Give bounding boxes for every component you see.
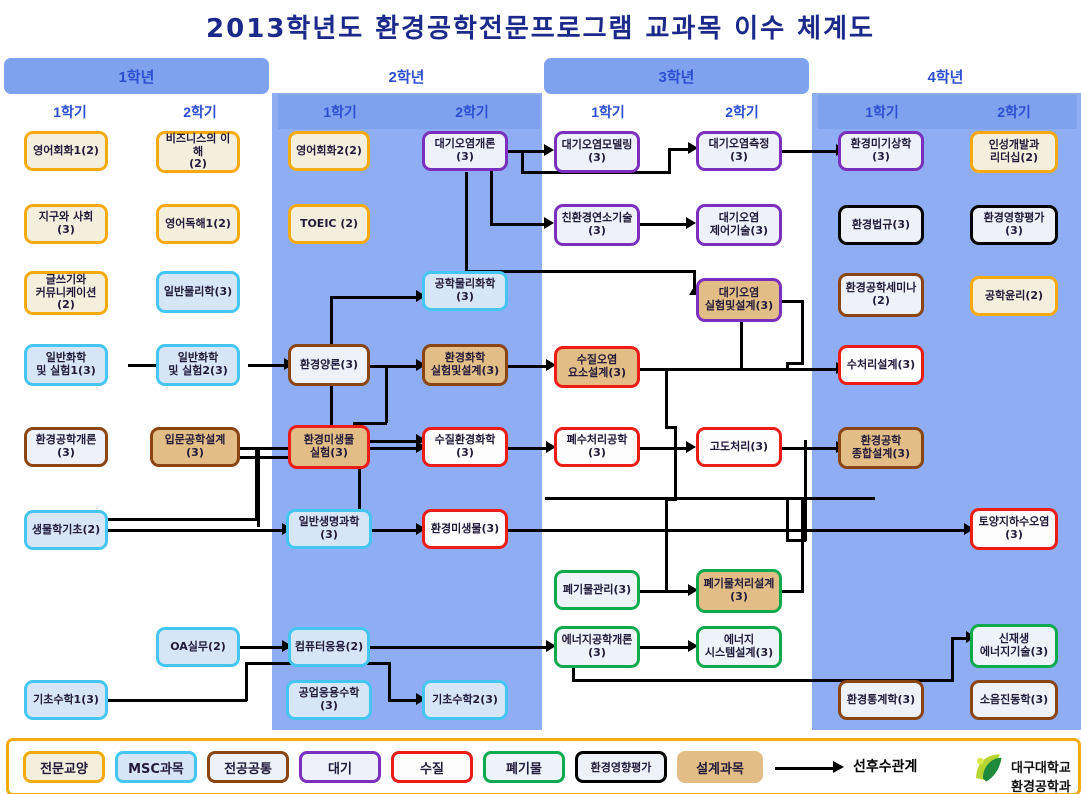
- course-label: OA실무(2): [170, 641, 226, 654]
- course-box[interactable]: 폐기물처리설계(3): [696, 569, 782, 613]
- wire: [370, 529, 420, 532]
- course-label: 친환경연소기술(3): [562, 212, 633, 237]
- course-label: 수질오염요소설계(3): [568, 354, 626, 379]
- year-header-1-label: 1학년: [119, 66, 155, 87]
- semester-text: 1학기: [323, 102, 357, 122]
- course-label: 환경미생물실험(3): [304, 434, 355, 459]
- course-box[interactable]: 일반화학및 실험2(3): [156, 344, 240, 386]
- year-header-4-label: 4학년: [928, 66, 964, 87]
- wire: [804, 497, 807, 541]
- arrow-head: [544, 217, 554, 229]
- legend-relation-label: 선후수관계: [853, 756, 917, 776]
- wire: [951, 637, 954, 681]
- course-label: 일반생명과학(3): [292, 516, 366, 541]
- legend-label: MSC과목: [128, 758, 184, 777]
- course-label: 입문공학설계(3): [156, 434, 234, 459]
- university-logo-icon: [971, 751, 1005, 785]
- wire: [490, 170, 493, 225]
- semester-text: 2학기: [997, 102, 1031, 122]
- semester-label-5: 1학기: [548, 95, 668, 129]
- year-header-3: 3학년: [544, 58, 809, 94]
- wire: [465, 172, 468, 272]
- wire: [786, 368, 838, 371]
- course-label: 일반화학및 실험2(3): [168, 352, 228, 377]
- semester-label-4: 2학기: [412, 95, 532, 129]
- course-label: 인성개발과리더십(2): [989, 139, 1040, 164]
- wire: [804, 440, 807, 498]
- course-box[interactable]: 수처리설계(3): [838, 345, 924, 385]
- legend-item-msc[interactable]: MSC과목: [115, 751, 197, 783]
- course-box[interactable]: 환경통계학(3): [838, 680, 924, 720]
- course-label: 기초수학2(3): [432, 694, 498, 707]
- legend-arrow-line: [775, 767, 835, 770]
- course-label: 환경양론(3): [300, 359, 358, 372]
- wire: [801, 300, 804, 364]
- wire: [640, 590, 690, 593]
- course-label: 수처리설계(3): [847, 359, 915, 372]
- course-label: 일반화학및 실험1(3): [36, 352, 96, 377]
- course-label: 글쓰기와커뮤니케이션(2): [30, 274, 102, 312]
- legend-item-gyoyang[interactable]: 전문교양: [23, 751, 105, 783]
- wire: [490, 223, 548, 226]
- course-label: 영어회화1(2): [33, 145, 99, 158]
- course-label: 환경공학세미나(2): [846, 282, 917, 307]
- course-box[interactable]: 친환경연소기술(3): [554, 204, 640, 246]
- wire: [107, 699, 247, 702]
- wire: [245, 662, 248, 701]
- course-box[interactable]: 영어회화1(2): [24, 131, 108, 171]
- wire: [740, 318, 743, 370]
- course-label: 영어독해1(2): [165, 218, 231, 231]
- course-box[interactable]: 입문공학설계(3): [150, 427, 240, 467]
- course-label: 환경미생물(3): [431, 523, 499, 536]
- course-box[interactable]: 기초수학1(3): [24, 680, 108, 720]
- course-box[interactable]: 환경영향평가(3): [970, 205, 1058, 245]
- course-box[interactable]: 수질환경화학(3): [422, 427, 508, 467]
- course-box[interactable]: 신재생에너지기술(3): [970, 624, 1058, 668]
- legend-label: 설계과목: [696, 758, 744, 777]
- course-box[interactable]: 공업응용수학(3): [286, 680, 372, 720]
- wire: [640, 646, 690, 649]
- course-box[interactable]: 에너지시스템설계(3): [696, 626, 782, 668]
- course-box[interactable]: 토양지하수오염(3): [970, 508, 1058, 550]
- course-box[interactable]: 지구와 사회(3): [24, 204, 108, 244]
- course-label: 신재생에너지기술(3): [980, 633, 1048, 658]
- legend-arrow-head-icon: [833, 761, 844, 773]
- wire: [786, 500, 789, 540]
- course-label: 대기오염제어기술(3): [710, 212, 768, 237]
- course-box[interactable]: 환경미생물실험(3): [288, 425, 370, 469]
- semester-text: 2학기: [725, 102, 759, 122]
- wire: [508, 529, 968, 532]
- wire: [370, 365, 420, 368]
- course-box[interactable]: 공학윤리(2): [970, 276, 1058, 316]
- course-label: 소음진동학(3): [980, 694, 1048, 707]
- year-header-3-label: 3학년: [659, 66, 695, 87]
- legend-item-water[interactable]: 수질: [391, 751, 473, 783]
- legend-label: 전문교양: [40, 758, 88, 777]
- course-box[interactable]: 컴퓨터응용(2): [288, 627, 370, 667]
- course-label: 기초수학1(3): [33, 694, 99, 707]
- legend-item-air[interactable]: 대기: [299, 751, 381, 783]
- course-label: 에너지공학개론(3): [562, 634, 633, 659]
- legend-label: 전공공통: [224, 758, 272, 777]
- wire: [508, 150, 548, 153]
- wire: [801, 500, 804, 592]
- course-label: 공업응용수학(3): [292, 687, 366, 712]
- course-box[interactable]: 비즈니스의 이해(2): [156, 131, 240, 173]
- course-box[interactable]: 일반물리학(3): [156, 271, 240, 313]
- wire: [107, 529, 285, 532]
- course-box[interactable]: 고도처리(3): [696, 427, 782, 467]
- semester-text: 1학기: [591, 102, 625, 122]
- wire: [782, 447, 838, 450]
- course-label: 폐기물관리(3): [563, 584, 631, 597]
- wire: [640, 223, 688, 226]
- course-label: 공학물리화학(3): [428, 278, 502, 303]
- semester-label-6: 2학기: [682, 95, 802, 129]
- wire: [545, 497, 875, 500]
- semester-text: 1학기: [53, 102, 87, 122]
- semester-text: 1학기: [865, 102, 899, 122]
- wire: [665, 498, 668, 592]
- course-label: 환경미기상학(3): [844, 138, 918, 163]
- legend-label: 폐기물: [506, 758, 542, 777]
- year-header-4: 4학년: [814, 58, 1077, 94]
- course-label: 환경화학실험및설계(3): [431, 352, 499, 377]
- course-box[interactable]: 폐기물관리(3): [554, 570, 640, 610]
- legend-panel: 전문교양 MSC과목 전공공통 대기 수질 폐기물 환경영향평가 설계과목 선후…: [6, 738, 1081, 794]
- course-box[interactable]: 공학물리화학(3): [422, 271, 508, 311]
- wire: [640, 368, 790, 371]
- course-label: 폐수처리공학(3): [560, 434, 634, 459]
- semester-text: 2학기: [183, 102, 217, 122]
- semester-label-3: 1학기: [280, 95, 400, 129]
- course-box[interactable]: 에너지공학개론(3): [554, 626, 640, 668]
- page-title: 2013학년도 환경공학전문프로그램 교과목 이수 체계도: [0, 8, 1081, 45]
- wire: [107, 518, 257, 521]
- course-box[interactable]: 환경공학종합설계(3): [838, 427, 924, 469]
- course-box[interactable]: 폐수처리공학(3): [554, 427, 640, 467]
- legend-item-eia[interactable]: 환경영향평가: [575, 751, 667, 783]
- course-label: 지구와 사회(3): [30, 211, 102, 236]
- legend-item-waste[interactable]: 폐기물: [483, 751, 565, 783]
- legend-item-design[interactable]: 설계과목: [677, 751, 763, 783]
- course-label: 환경통계학(3): [847, 694, 915, 707]
- year-header-2: 2학년: [274, 58, 539, 94]
- course-label: 폐기물처리설계(3): [704, 578, 775, 603]
- course-label: 에너지시스템설계(3): [705, 634, 773, 659]
- semester-label-8: 2학기: [954, 95, 1074, 129]
- course-label: 고도처리(3): [710, 441, 768, 454]
- wire: [385, 365, 388, 423]
- course-box[interactable]: 환경공학개론(3): [24, 427, 108, 467]
- course-box[interactable]: 수질오염요소설계(3): [554, 346, 640, 388]
- course-box[interactable]: 기초수학2(3): [422, 680, 508, 720]
- semester-label-1: 1학기: [10, 95, 130, 129]
- arrow-head: [686, 441, 696, 453]
- course-label: TOEIC (2): [300, 218, 358, 231]
- course-label: 공학윤리(2): [985, 290, 1043, 303]
- wire: [668, 148, 671, 173]
- semester-label-7: 1학기: [822, 95, 942, 129]
- course-box[interactable]: 환경미기상학(3): [838, 131, 924, 171]
- course-label: 비즈니스의 이해(2): [162, 133, 234, 171]
- course-label: 환경영향평가(3): [976, 212, 1052, 237]
- course-box[interactable]: 영어회화2(2): [288, 131, 370, 171]
- arrow-head: [544, 144, 554, 156]
- course-box[interactable]: 글쓰기와커뮤니케이션(2): [24, 271, 108, 315]
- wire: [508, 365, 550, 368]
- course-box[interactable]: 일반화학및 실험1(3): [24, 344, 108, 386]
- course-box[interactable]: 인성개발과리더십(2): [970, 131, 1058, 173]
- course-label: 수질환경화학(3): [428, 434, 502, 459]
- course-box[interactable]: 소음진동학(3): [970, 680, 1058, 720]
- wire: [388, 662, 391, 700]
- course-box[interactable]: 일반생명과학(3): [286, 509, 372, 549]
- wire: [240, 447, 262, 450]
- wire: [674, 426, 677, 500]
- course-box[interactable]: 대기오염실험및설계(3): [696, 278, 782, 322]
- course-box[interactable]: 대기오염개론(3): [422, 131, 508, 171]
- course-label: 컴퓨터응용(2): [295, 641, 363, 654]
- course-box[interactable]: 환경미생물(3): [422, 509, 508, 549]
- legend-label: 환경영향평가: [591, 759, 652, 775]
- year-header-2-label: 2학년: [389, 66, 425, 87]
- course-label: 대기오염실험및설계(3): [705, 287, 773, 312]
- arrow-head: [686, 217, 696, 229]
- course-label: 환경법규(3): [852, 219, 910, 232]
- wire: [782, 150, 840, 153]
- course-label: 생물학기초(2): [32, 524, 100, 537]
- course-box[interactable]: 환경법규(3): [838, 205, 924, 245]
- course-box[interactable]: OA실무(2): [156, 627, 240, 667]
- legend-label: 수질: [420, 758, 444, 777]
- course-box[interactable]: 환경공학세미나(2): [838, 273, 924, 317]
- curriculum-flowchart: 2013학년도 환경공학전문프로그램 교과목 이수 체계도 1학년 2학년 3학…: [0, 0, 1081, 794]
- legend-label: 대기: [328, 758, 352, 777]
- course-box[interactable]: TOEIC (2): [288, 204, 370, 244]
- legend-item-common[interactable]: 전공공통: [207, 751, 289, 783]
- course-box[interactable]: 대기오염제어기술(3): [696, 204, 782, 246]
- semester-label-2: 2학기: [140, 95, 260, 129]
- wire: [508, 447, 550, 450]
- course-label: 일반물리학(3): [164, 286, 232, 299]
- course-label: 환경공학종합설계(3): [852, 435, 910, 460]
- wire: [330, 296, 420, 299]
- course-label: 토양지하수오염(3): [979, 516, 1050, 541]
- course-label: 영어회화2(2): [296, 145, 362, 158]
- course-label: 대기오염모델링(3): [562, 139, 633, 164]
- wire: [370, 646, 550, 649]
- wire: [640, 447, 690, 450]
- course-label: 대기오염개론(3): [428, 138, 502, 163]
- semester-text: 2학기: [455, 102, 489, 122]
- course-box[interactable]: 환경화학실험및설계(3): [422, 344, 508, 386]
- course-box[interactable]: 대기오염모델링(3): [554, 131, 640, 173]
- course-box[interactable]: 대기오염측정(3): [696, 131, 782, 171]
- course-box[interactable]: 환경양론(3): [288, 344, 370, 386]
- university-name: 대구대학교 환경공학과: [1011, 757, 1078, 794]
- course-box[interactable]: 생물학기초(2): [24, 510, 108, 550]
- course-label: 대기오염측정(3): [702, 138, 776, 163]
- wire: [665, 368, 668, 428]
- course-label: 환경공학개론(3): [30, 434, 102, 459]
- year-header-1: 1학년: [4, 58, 269, 94]
- course-box[interactable]: 영어독해1(2): [156, 204, 240, 244]
